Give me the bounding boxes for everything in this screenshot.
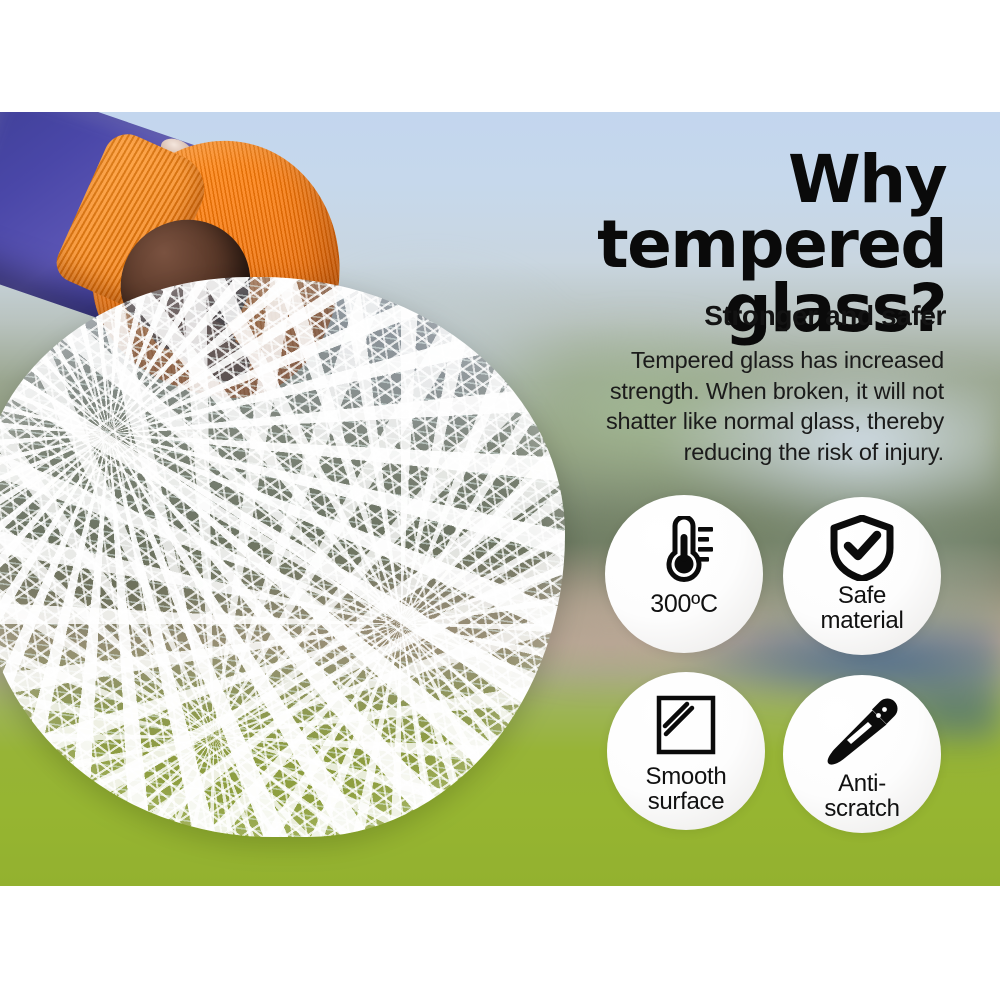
anti-scratch-line-1: Anti- (838, 770, 886, 797)
feature-badge-safe-material[interactable]: Safe material (783, 497, 941, 655)
product-feature-poster: Why tempered glass? Stronger and safer T… (0, 0, 1000, 1000)
shattered-glass-sheet (0, 277, 565, 837)
smooth-surface-line-1: Smooth (646, 763, 727, 790)
safe-material-line-2: material (821, 607, 904, 634)
feature-badge-safe-material-label: Safe material (821, 583, 904, 634)
safe-material-line-1: Safe (838, 582, 886, 609)
bottom-white-margin (0, 886, 1000, 1000)
feature-badge-anti-scratch[interactable]: Anti- scratch (783, 675, 941, 833)
glass-edge-highlight (0, 277, 565, 837)
feature-badge-temperature[interactable]: 300ºC (605, 495, 763, 653)
feature-badge-temperature-label: 300ºC (650, 591, 717, 618)
feature-badge-smooth-surface[interactable]: Smooth surface (607, 672, 765, 830)
feature-badge-smooth-surface-label: Smooth surface (646, 764, 727, 815)
top-white-margin (0, 0, 1000, 112)
feature-badge-group: 300ºC Safe material (605, 495, 965, 855)
subheadline: Stronger and safer (426, 300, 946, 332)
body-paragraph: Tempered glass has increased strength. W… (544, 345, 944, 467)
shield-check-icon (829, 515, 895, 581)
thermometer-icon (653, 513, 715, 585)
headline-line-1: Why tempered (426, 148, 946, 277)
glass-pane-icon (653, 690, 719, 762)
feature-badge-anti-scratch-label: Anti- scratch (824, 771, 899, 822)
anti-scratch-line-2: scratch (824, 795, 899, 822)
smooth-surface-line-2: surface (648, 788, 725, 815)
knife-icon (823, 693, 901, 769)
